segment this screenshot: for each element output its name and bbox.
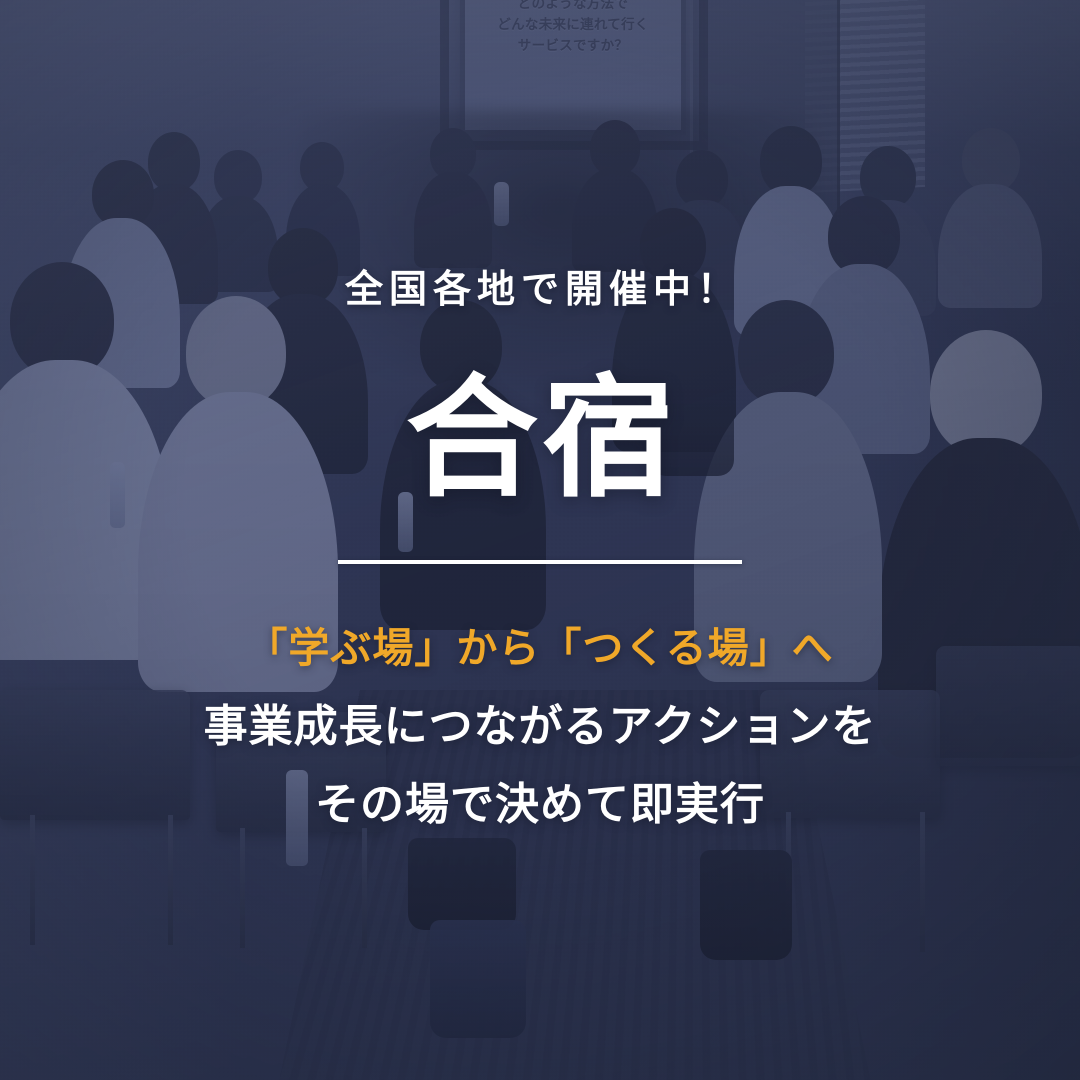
eyebrow-text: 全国各地で開催中！: [0, 258, 1080, 313]
tagline-gold: 「学ぶ場」から「つくる場」へ: [0, 614, 1080, 674]
body-line-2: その場で決めて即実行: [0, 766, 1080, 844]
body-copy: 事業成長につながるアクションを その場で決めて即実行: [0, 688, 1080, 844]
body-line-1: 事業成長につながるアクションを: [0, 688, 1080, 766]
page-title: 合宿: [0, 372, 1080, 507]
poster-content: 全国各地で開催中！ 合宿 「学ぶ場」から「つくる場」へ 事業成長につながるアクシ…: [0, 0, 1080, 1080]
poster-canvas: ⑤誰のどんな悩みを どのような方法で どんな未来に連れて行く サービスですか？: [0, 0, 1080, 1080]
divider-rule: [338, 560, 742, 564]
